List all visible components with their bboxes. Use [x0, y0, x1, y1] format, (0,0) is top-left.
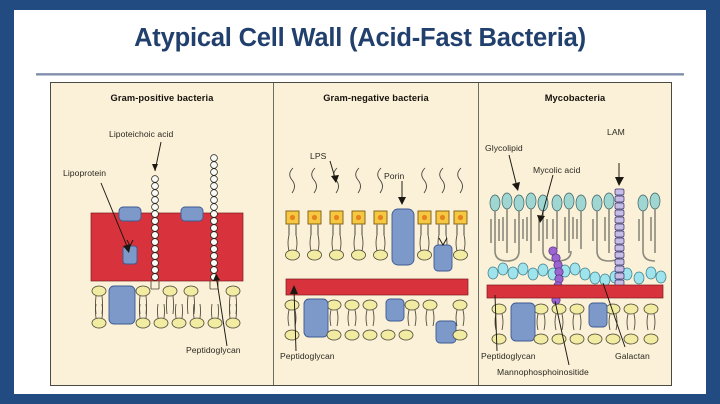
panel-gram-positive: Gram-positive bacteria	[51, 83, 273, 385]
label-mannophosphoinositide: Mannophosphoinositide	[497, 367, 589, 377]
inner-membrane-protein-large	[304, 299, 328, 337]
peptidoglycan-layer	[91, 213, 243, 281]
slide-canvas: Atypical Cell Wall (Acid-Fast Bacteria) …	[0, 0, 720, 404]
peptidoglycan-layer	[286, 279, 468, 295]
arrowhead-lipoteichoic	[152, 164, 158, 171]
page-title: Atypical Cell Wall (Acid-Fast Bacteria)	[14, 24, 706, 53]
lipoprotein-protein-2	[181, 207, 203, 221]
label-peptidoglycan: Peptidoglycan	[481, 351, 536, 361]
label-lam: LAM	[607, 127, 625, 137]
lam-chain	[615, 189, 624, 293]
arabinogalactan-chain	[488, 263, 666, 286]
membrane-protein-large	[511, 303, 535, 341]
panel-gram-negative: Gram-negative bacteria	[274, 83, 478, 385]
label-glycolipid: Glycolipid	[485, 143, 523, 153]
label-mycolic-acid: Mycolic acid	[533, 165, 580, 175]
label-lps: LPS	[310, 151, 326, 161]
lipoprotein-protein-1	[119, 207, 141, 221]
outer-membrane-protein	[434, 245, 452, 271]
plasma-membrane-bilayer	[92, 286, 240, 328]
inner-membrane-protein-small	[386, 299, 404, 321]
lipoteichoic-acid-chain-2	[210, 155, 218, 289]
leader-glycolipid	[509, 155, 517, 187]
gram-negative-diagram	[274, 83, 478, 385]
label-peptidoglycan: Peptidoglycan	[186, 345, 241, 355]
label-lipoteichoic-acid: Lipoteichoic acid	[109, 129, 173, 139]
arrowhead-porin	[398, 197, 406, 205]
label-porin: Porin	[384, 171, 404, 181]
lipoprotein-protein-3	[123, 246, 137, 264]
mycobacteria-diagram	[479, 83, 671, 385]
omp-anchor	[439, 238, 447, 245]
label-lipoprotein: Lipoprotein	[63, 168, 106, 178]
figure-container: Gram-positive bacteria	[50, 82, 672, 386]
panel-mycobacteria: Mycobacteria	[479, 83, 671, 385]
plasma-membrane-bilayer	[492, 303, 658, 344]
label-galactan: Galactan	[615, 351, 650, 361]
membrane-protein-large	[109, 286, 135, 324]
inner-membrane-protein-mid	[436, 321, 456, 343]
title-divider	[36, 73, 684, 76]
peptidoglycan-layer	[487, 285, 663, 298]
membrane-protein-small	[589, 303, 607, 327]
leader-peptidoglycan	[216, 275, 227, 346]
inner-plasma-membrane	[285, 299, 467, 343]
porin-channel	[392, 209, 414, 265]
slide-inner-area: Atypical Cell Wall (Acid-Fast Bacteria) …	[14, 10, 706, 394]
arrowhead-lps	[331, 175, 339, 183]
arrowhead-lam	[615, 177, 624, 186]
label-peptidoglycan: Peptidoglycan	[280, 351, 335, 361]
arrowhead-glycolipid	[512, 182, 520, 191]
mycolic-acid-layer	[490, 193, 660, 261]
